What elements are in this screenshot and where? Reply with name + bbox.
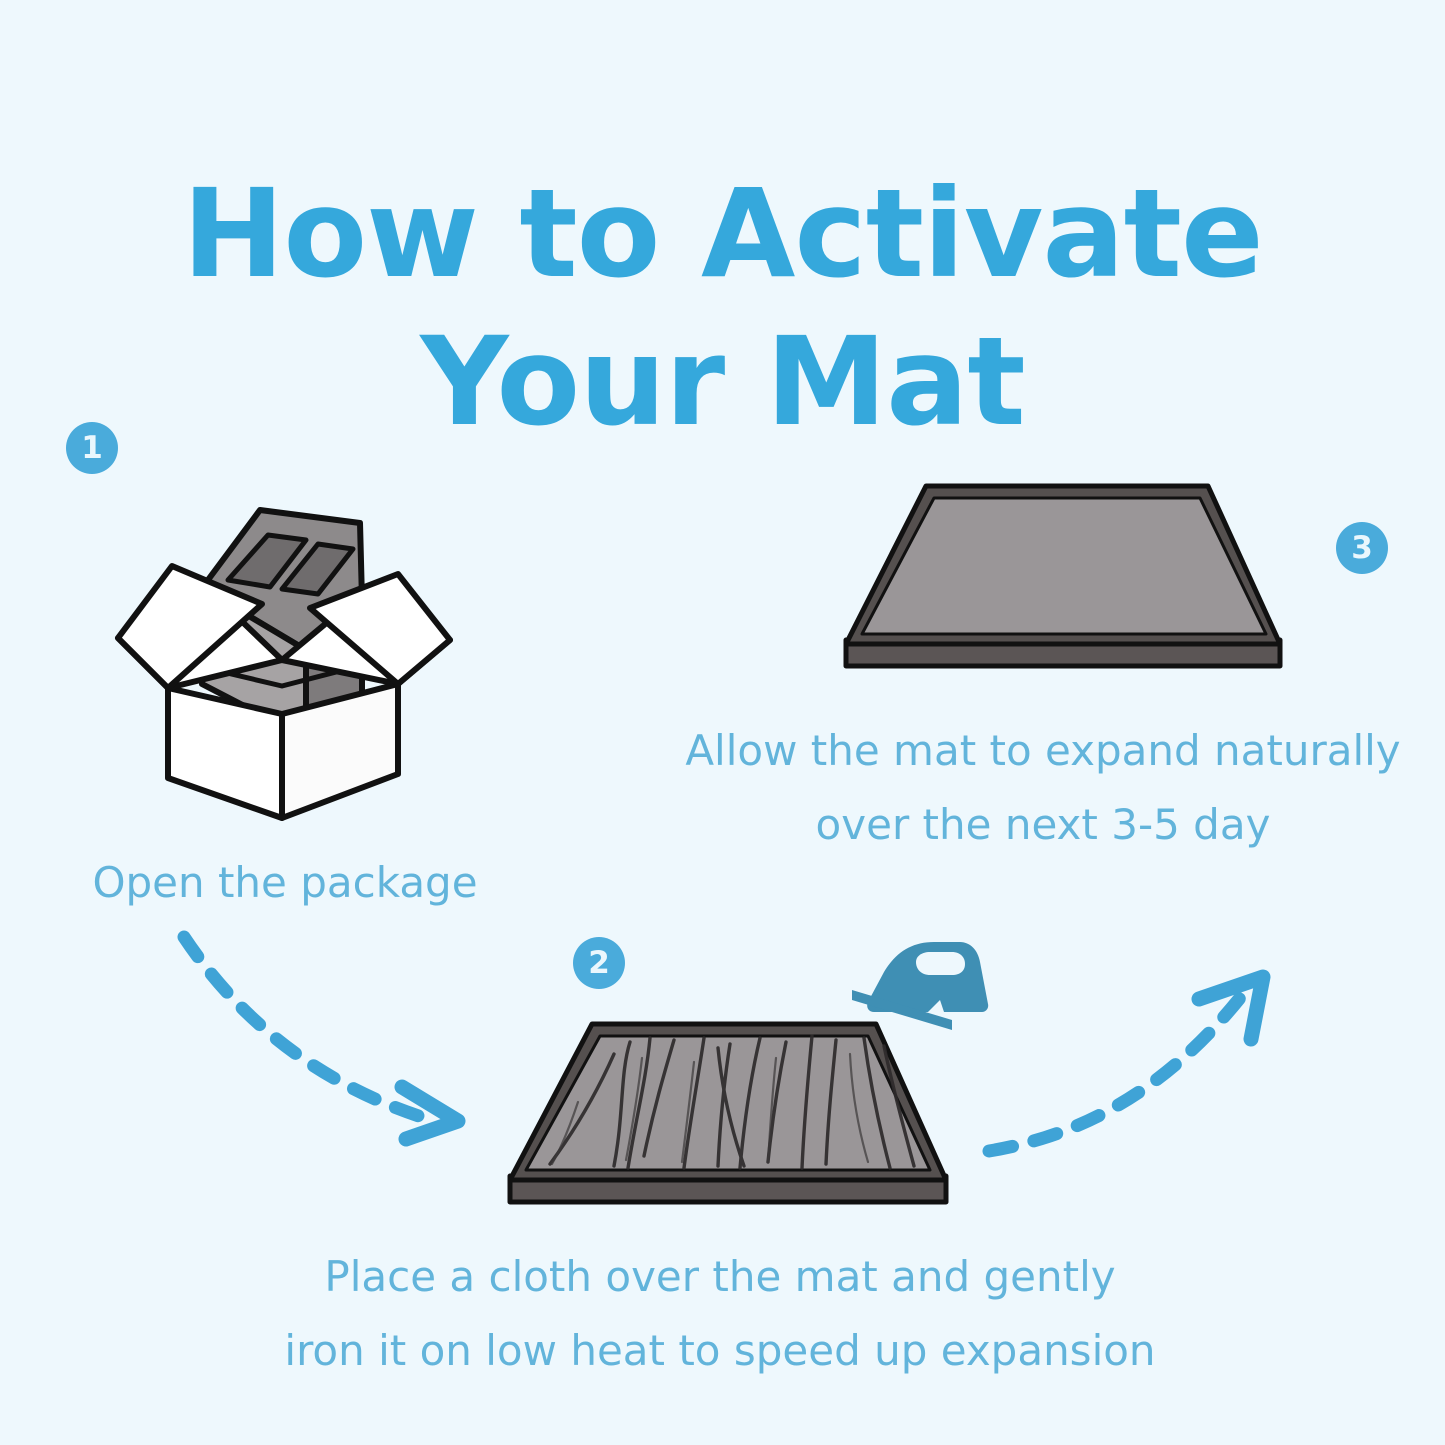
arrow-step2-to-step3 xyxy=(975,955,1285,1165)
flat-mat-icon xyxy=(828,468,1298,683)
step-badge-1: 1 xyxy=(66,422,118,474)
cardboard-box-icon xyxy=(110,488,455,823)
title-line-1: How to Activate xyxy=(182,163,1263,305)
cardboard-box-illustration xyxy=(110,488,455,823)
step-badge-2: 2 xyxy=(573,937,625,989)
step-1-caption: Open the package xyxy=(40,846,530,920)
arrow-step1-to-step2 xyxy=(170,925,500,1155)
flat-mat-illustration xyxy=(828,468,1298,683)
step-2-caption: Place a cloth over the mat and gently ir… xyxy=(245,1240,1195,1388)
page-title: How to Activate Your Mat xyxy=(0,160,1445,456)
step-3-caption: Allow the mat to expand naturally over t… xyxy=(668,714,1418,862)
curved-dashed-arrow-down-right-icon xyxy=(170,925,500,1155)
infographic-canvas: How to Activate Your Mat 1 xyxy=(0,0,1445,1445)
step-badge-3: 3 xyxy=(1336,522,1388,574)
curved-dashed-arrow-up-right-icon xyxy=(975,955,1285,1165)
title-line-2: Your Mat xyxy=(0,308,1445,456)
